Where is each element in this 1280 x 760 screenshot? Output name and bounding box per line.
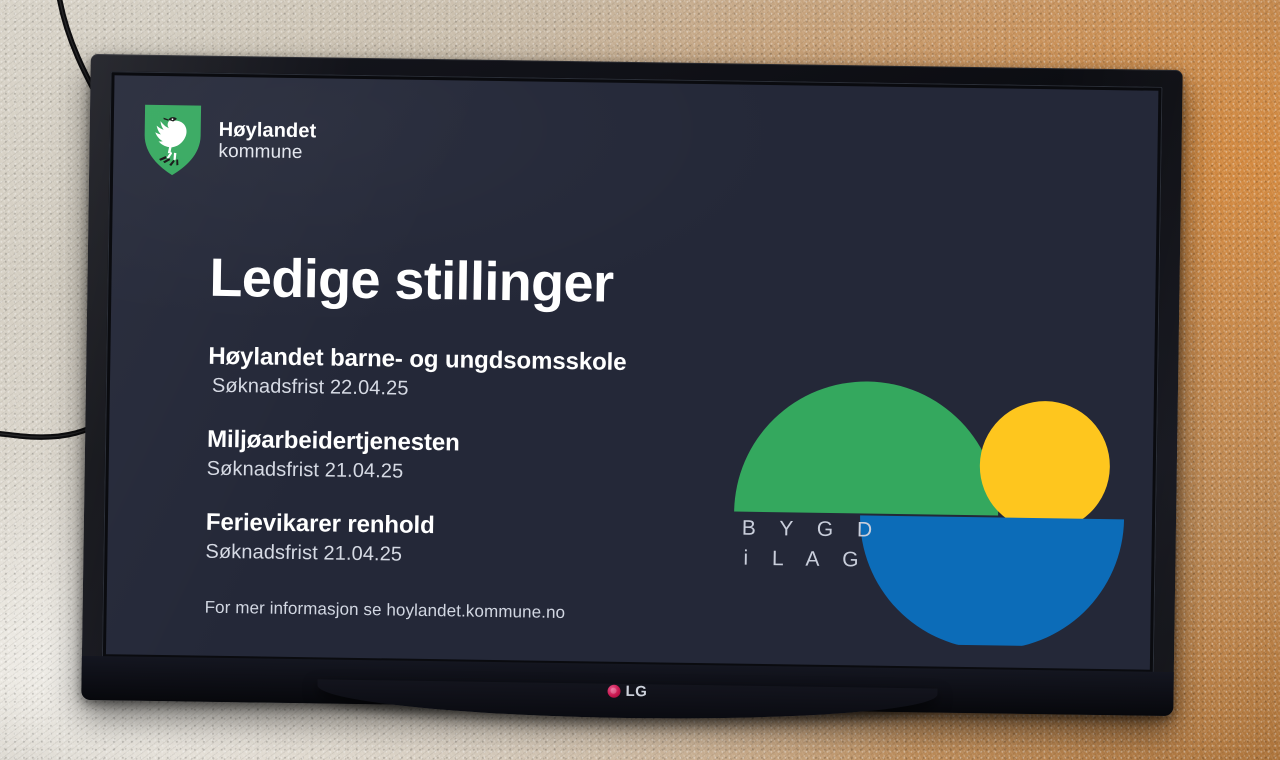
room-scene: Høylandet kommune Ledige stillinger Høyl…	[0, 0, 1280, 760]
scene-vignette	[0, 0, 1280, 760]
